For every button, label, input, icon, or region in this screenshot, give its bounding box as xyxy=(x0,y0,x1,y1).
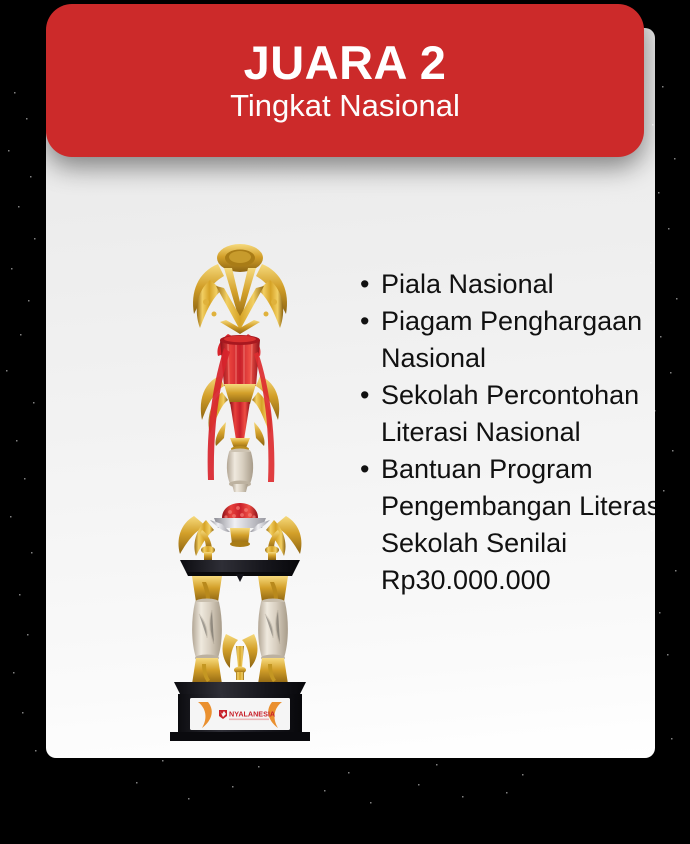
list-item: • Sekolah Percontohan Literasi Nasional xyxy=(357,377,655,451)
list-item-label: Piala Nasional xyxy=(381,269,554,299)
bullet-icon: • xyxy=(360,266,374,303)
bullet-icon: • xyxy=(360,377,374,414)
benefits-list: • Piala Nasional • Piagam Penghargaan Na… xyxy=(357,266,655,599)
page-title: JUARA 2 xyxy=(244,38,447,87)
list-item: • Bantuan Program Pengembangan Literasi … xyxy=(357,451,655,599)
trophy-mid-red-dome xyxy=(210,503,270,547)
list-item-label: Bantuan Program Pengembangan Literasi Se… xyxy=(381,454,655,595)
trophy-crown-ornament xyxy=(193,244,287,334)
trophy-plaque-brand-text: NYALANESIA xyxy=(229,710,275,719)
list-item: • Piala Nasional xyxy=(357,266,655,303)
trophy-eagle-right xyxy=(265,516,301,560)
trophy-mid-marble-column xyxy=(227,449,253,493)
trophy-base: NYALANESIA xyxy=(170,682,310,741)
page-subtitle: Tingkat Nasional xyxy=(230,89,460,123)
list-item: • Piagam Penghargaan Nasional xyxy=(357,303,655,377)
award-card-stage: NYALANESIA • Piala Nasional • Piagam Pen… xyxy=(0,0,690,844)
card-body: NYALANESIA • Piala Nasional • Piagam Pen… xyxy=(92,188,655,758)
trophy-center-eagle xyxy=(223,634,258,680)
trophy-pillar-left xyxy=(192,576,222,684)
bullet-icon: • xyxy=(360,451,374,488)
trophy-eagle-left xyxy=(179,516,215,560)
grain-decoration-left xyxy=(0,0,48,844)
list-item-label: Piagam Penghargaan Nasional xyxy=(381,306,642,373)
bullet-icon: • xyxy=(360,303,374,340)
trophy-illustration-svg: NYALANESIA xyxy=(150,236,330,741)
trophy-image: NYALANESIA xyxy=(150,236,330,741)
trophy-pillar-right xyxy=(258,576,288,684)
list-item-label: Sekolah Percontohan Literasi Nasional xyxy=(381,380,639,447)
award-header-banner: JUARA 2 Tingkat Nasional xyxy=(46,4,644,157)
